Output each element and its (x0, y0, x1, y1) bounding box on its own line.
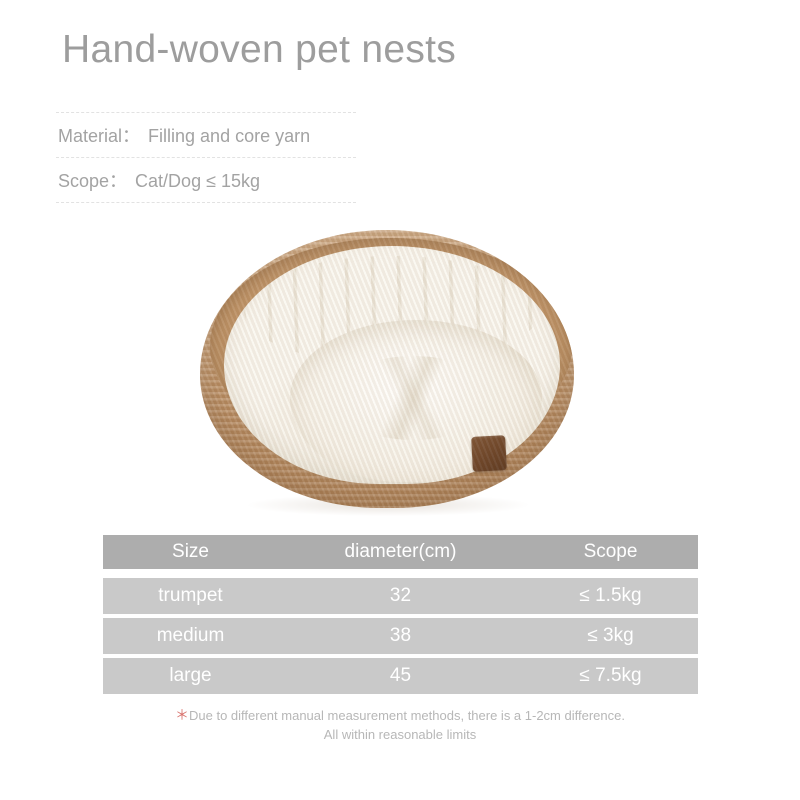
spec-list: Material：Filling and core yarn Scope：Cat… (56, 112, 356, 203)
page-title: Hand-woven pet nests (62, 28, 456, 72)
spec-value-scope: Cat/Dog ≤ 15kg (135, 171, 260, 191)
cell-size: medium (103, 625, 278, 647)
table-header-diameter: diameter(cm) (278, 541, 523, 563)
cell-diameter: 38 (278, 625, 523, 647)
footnote-line-2: All within reasonable limits (100, 725, 700, 744)
cushion-pad (290, 320, 542, 482)
leather-tag-icon (471, 435, 507, 472)
cell-size: large (103, 665, 278, 687)
table-header-size: Size (103, 541, 278, 563)
measurement-footnote: ＊Due to different manual measurement met… (100, 706, 700, 744)
table-row: medium 38 ≤ 3kg (103, 618, 698, 654)
basket-illustration (196, 218, 578, 518)
spec-label-scope: Scope： (58, 171, 127, 191)
spec-value-material: Filling and core yarn (148, 126, 310, 146)
cell-diameter: 45 (278, 665, 523, 687)
table-row: trumpet 32 ≤ 1.5kg (103, 578, 698, 614)
footnote-line-1: Due to different manual measurement meth… (189, 708, 625, 723)
size-table: Size diameter(cm) Scope trumpet 32 ≤ 1.5… (103, 535, 698, 694)
cell-scope: ≤ 1.5kg (523, 585, 698, 607)
cell-scope: ≤ 3kg (523, 625, 698, 647)
cell-diameter: 32 (278, 585, 523, 607)
pet-nest-photo (196, 218, 578, 518)
table-row: large 45 ≤ 7.5kg (103, 658, 698, 694)
table-header-row: Size diameter(cm) Scope (103, 535, 698, 569)
cell-scope: ≤ 7.5kg (523, 665, 698, 687)
woven-basket-body (200, 230, 574, 508)
cushion-bolster (224, 246, 560, 484)
basket-inner-rim (210, 238, 572, 454)
asterisk-icon: ＊ (175, 707, 189, 723)
spec-row-material: Material：Filling and core yarn (56, 112, 356, 157)
table-header-scope: Scope (523, 541, 698, 563)
cell-size: trumpet (103, 585, 278, 607)
spec-row-scope: Scope：Cat/Dog ≤ 15kg (56, 157, 356, 203)
spec-label-material: Material： (58, 126, 140, 146)
